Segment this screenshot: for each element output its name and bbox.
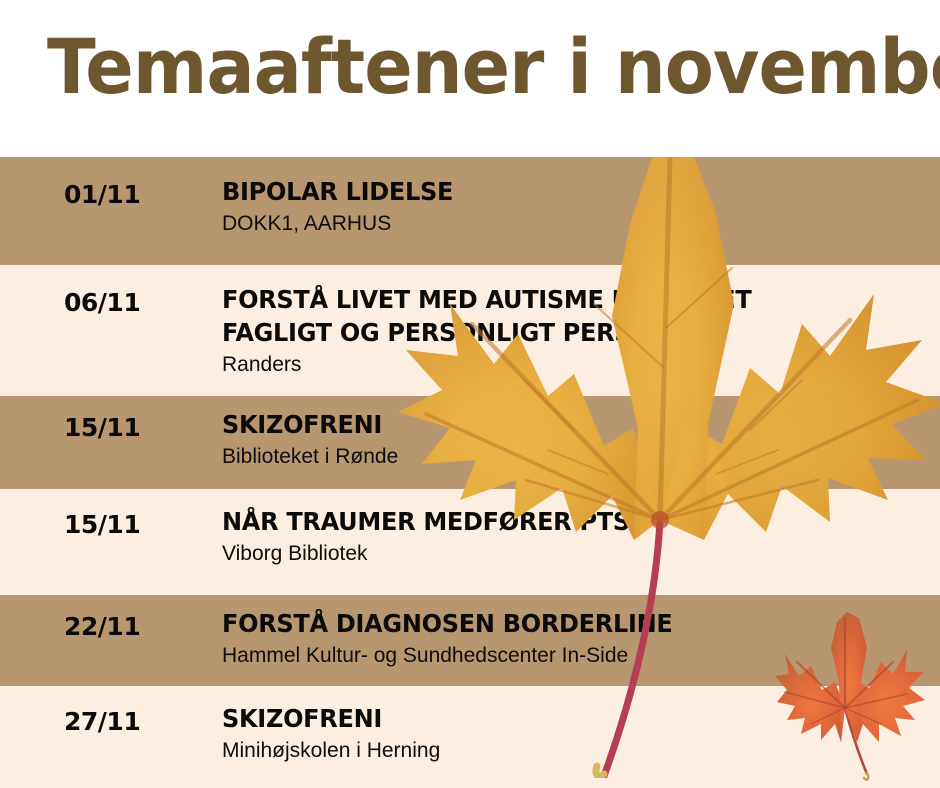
- schedule-row: 27/11SKIZOFRENIMinihøjskolen i Herning: [0, 686, 940, 788]
- schedule-row: 22/11FORSTÅ DIAGNOSEN BORDERLINEHammel K…: [0, 595, 940, 686]
- event-date: 15/11: [64, 414, 140, 442]
- poster-canvas: 01/11BIPOLAR LIDELSEDOKK1, AARHUS06/11FO…: [0, 0, 940, 788]
- event-title: SKIZOFRENI: [222, 408, 902, 441]
- event-date: 15/11: [64, 511, 140, 539]
- event-date: 06/11: [64, 289, 140, 317]
- event-details: SKIZOFRENIBiblioteket i Rønde: [222, 408, 930, 471]
- event-date: 22/11: [64, 613, 140, 641]
- schedule-list: 01/11BIPOLAR LIDELSEDOKK1, AARHUS06/11FO…: [0, 157, 940, 788]
- event-venue: Randers: [222, 351, 930, 379]
- event-details: NÅR TRAUMER MEDFØRER PTSDViborg Bibliote…: [222, 505, 930, 568]
- event-date: 27/11: [64, 708, 140, 736]
- event-venue: DOKK1, AARHUS: [222, 210, 930, 238]
- event-venue: Viborg Bibliotek: [222, 540, 930, 568]
- event-title: FORSTÅ LIVET MED AUTISME UD FRA ET: [222, 283, 902, 316]
- schedule-row: 15/11SKIZOFRENIBiblioteket i Rønde: [0, 396, 940, 489]
- event-details: SKIZOFRENIMinihøjskolen i Herning: [222, 702, 930, 765]
- event-details: BIPOLAR LIDELSEDOKK1, AARHUS: [222, 175, 930, 238]
- event-venue: Minihøjskolen i Herning: [222, 737, 930, 765]
- title-band: Temaaftener i november: [0, 0, 940, 157]
- event-details: FORSTÅ LIVET MED AUTISME UD FRA ETFAGLIG…: [222, 283, 930, 379]
- event-details: FORSTÅ DIAGNOSEN BORDERLINEHammel Kultur…: [222, 607, 930, 670]
- event-title: SKIZOFRENI: [222, 702, 902, 735]
- event-title: BIPOLAR LIDELSE: [222, 175, 902, 208]
- event-venue: Hammel Kultur- og Sundhedscenter In-Side: [222, 642, 930, 670]
- event-title: NÅR TRAUMER MEDFØRER PTSD: [222, 505, 902, 538]
- schedule-row: 06/11FORSTÅ LIVET MED AUTISME UD FRA ETF…: [0, 265, 940, 396]
- event-title: FORSTÅ DIAGNOSEN BORDERLINE: [222, 607, 902, 640]
- event-date: 01/11: [64, 181, 140, 209]
- page-title: Temaaftener i november: [47, 23, 940, 111]
- event-venue: Biblioteket i Rønde: [222, 443, 930, 471]
- schedule-row: 15/11NÅR TRAUMER MEDFØRER PTSDViborg Bib…: [0, 489, 940, 595]
- event-title-line2: FAGLIGT OG PERSONLIGT PERSPEKTIV: [222, 316, 902, 349]
- schedule-row: 01/11BIPOLAR LIDELSEDOKK1, AARHUS: [0, 157, 940, 265]
